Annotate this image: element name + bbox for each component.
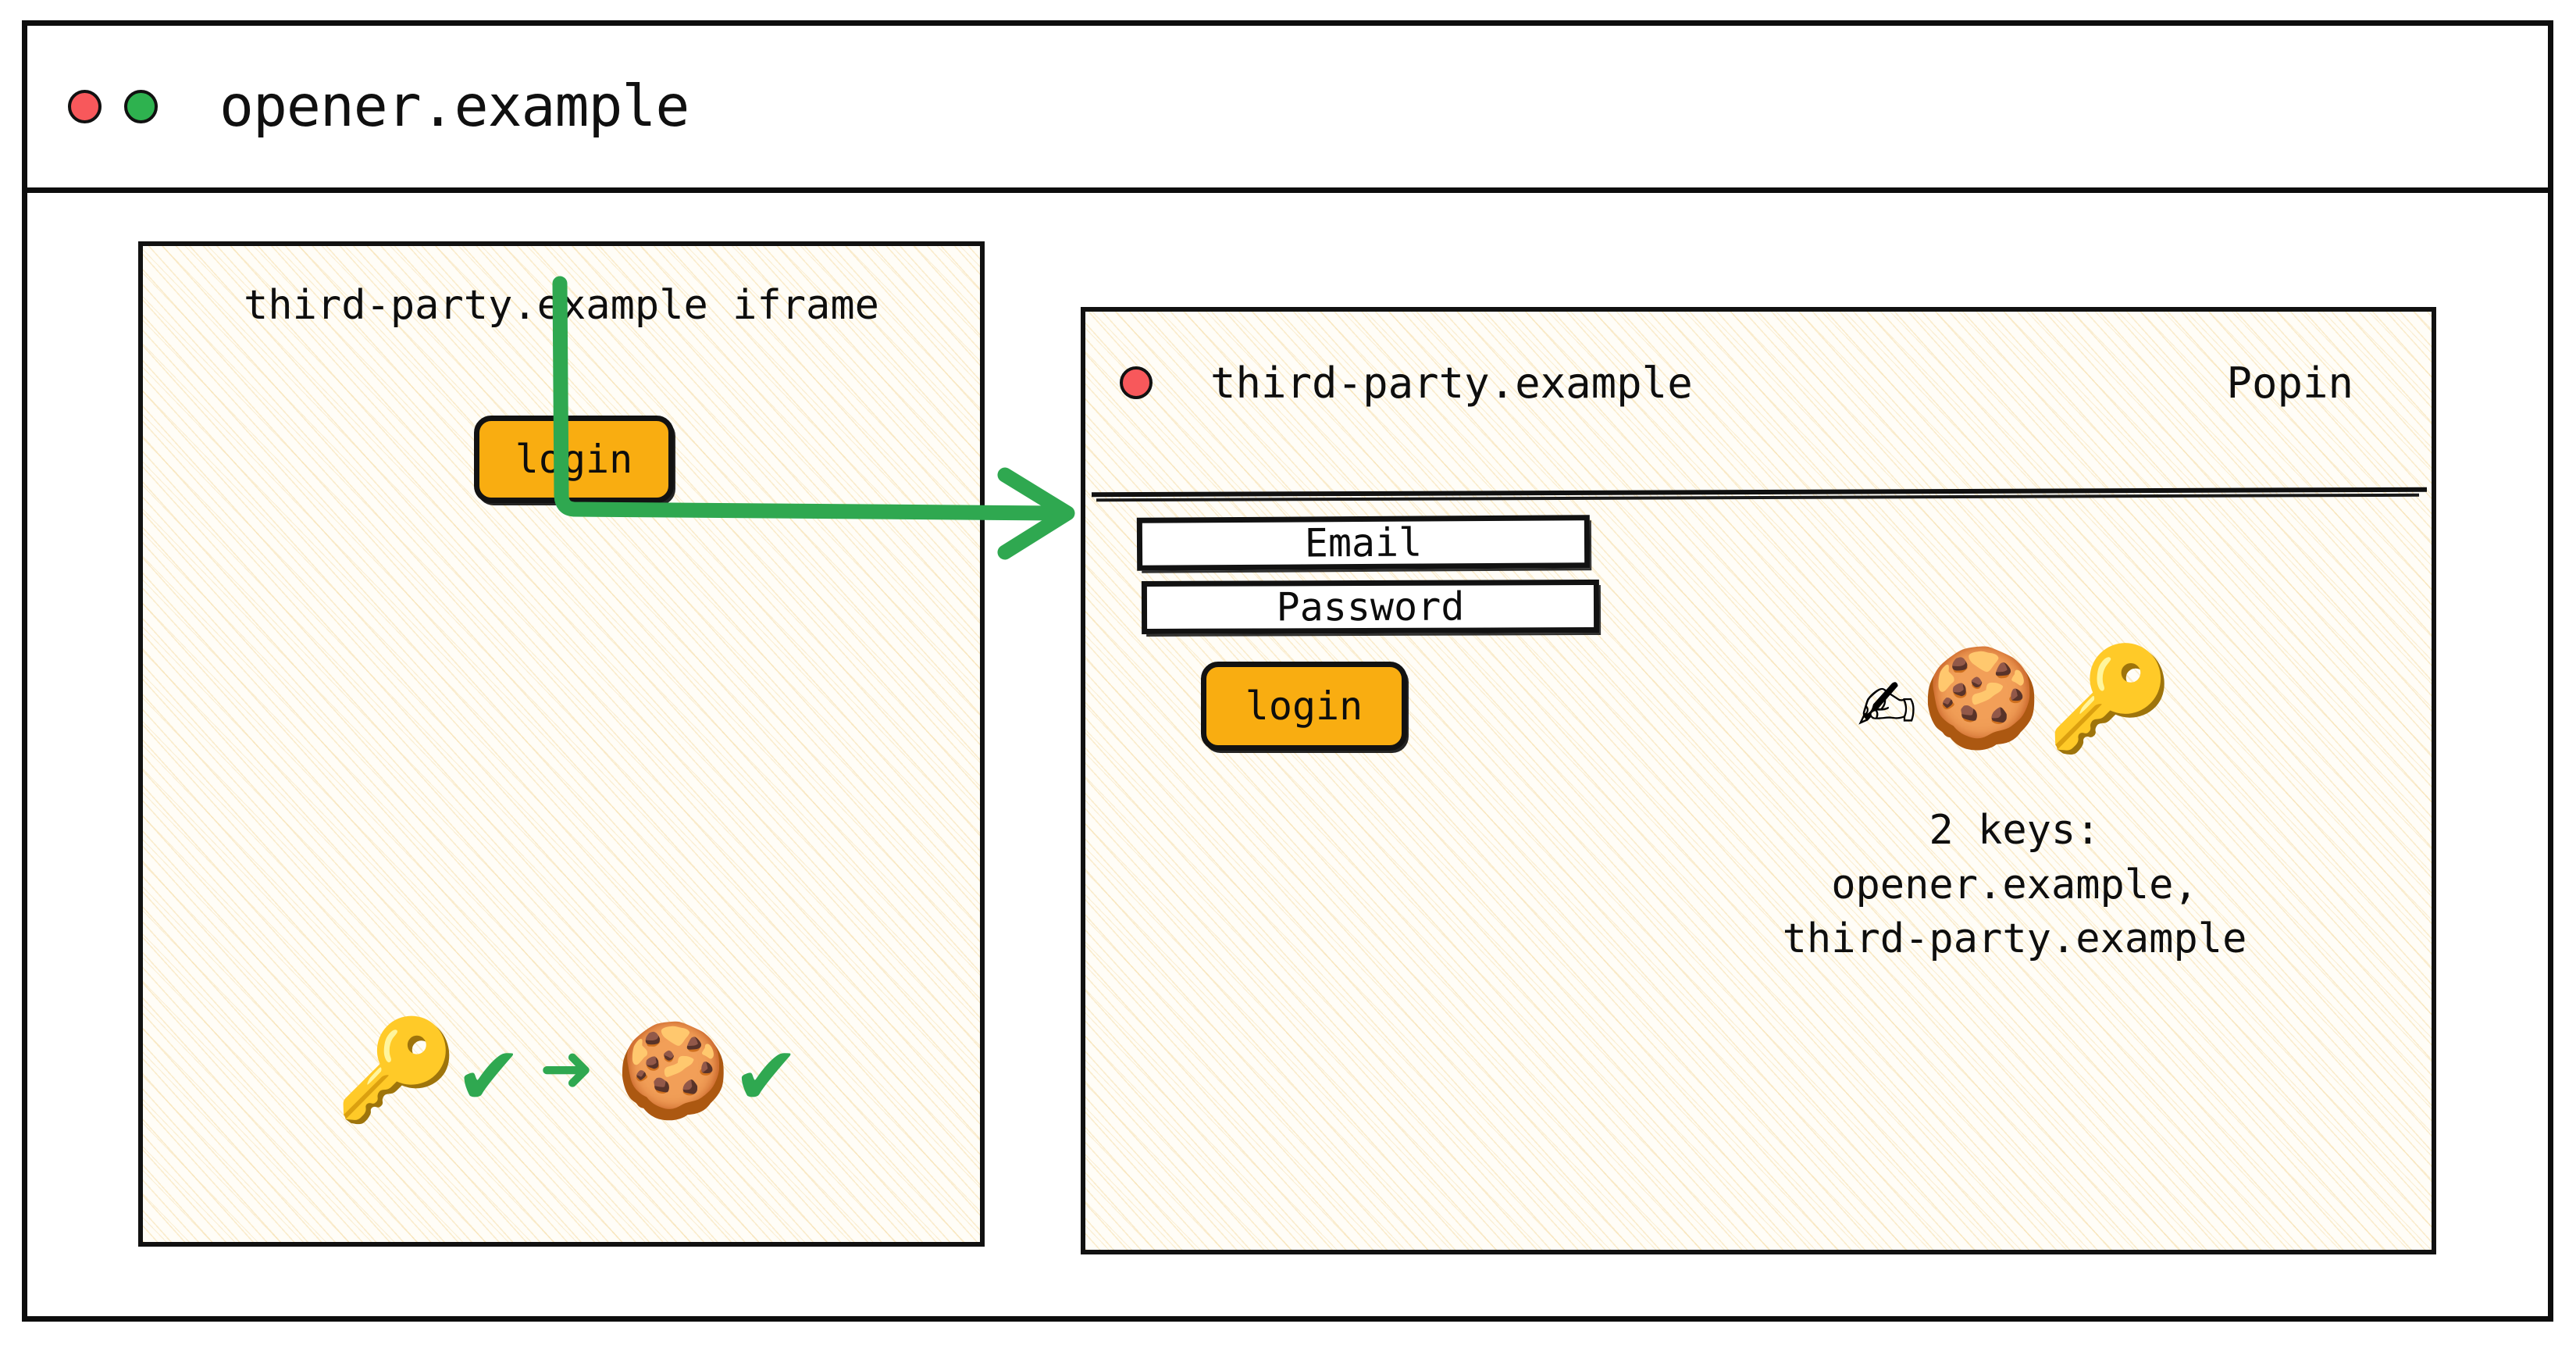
cookie-icon: 🍪 (1921, 650, 2041, 747)
maximize-dot-icon[interactable] (124, 90, 158, 123)
popup-close-dot-icon[interactable] (1120, 366, 1153, 399)
email-field[interactable]: Email (1137, 515, 1590, 571)
password-field[interactable]: Password (1142, 580, 1599, 634)
flow-arrow-icon: ➜ (540, 1026, 592, 1114)
browser-window: opener.example third-party.example ifram… (22, 20, 2553, 1322)
writing-hand-icon: ✍ (1856, 648, 1916, 748)
popup-header: third-party.example Popin (1085, 312, 2432, 454)
popup-origin-label: third-party.example (1210, 359, 1693, 408)
iframe-login-button[interactable]: login (474, 416, 674, 503)
iframe-storage-row: 🔑 ✔ ➜ 🍪 ✔ (159, 972, 971, 1168)
popup-panel: third-party.example Popin Email Password… (1081, 307, 2436, 1254)
key-check-icon: ✔ (461, 1024, 516, 1116)
window-title: opener.example (219, 73, 689, 140)
iframe-title: third-party.example iframe (143, 282, 980, 329)
cookie-check-icon: ✔ (739, 1024, 794, 1116)
popup-keys-note: 2 keys: opener.example, third-party.exam… (1663, 804, 2366, 967)
diagram-canvas: opener.example third-party.example ifram… (0, 0, 2576, 1356)
popup-login-button[interactable]: login (1201, 662, 1407, 751)
popup-storage-icons: ✍ 🍪 🔑 (1718, 648, 2311, 749)
third-party-iframe-panel: third-party.example iframe login 🔑 ✔ ➜ 🍪… (138, 241, 985, 1247)
key-icon: 🔑 (335, 1021, 458, 1119)
popup-login-form: Email Password (1132, 516, 1601, 633)
window-title-bar: opener.example (27, 26, 2548, 193)
popup-header-divider (1092, 487, 2427, 498)
close-dot-icon[interactable] (68, 90, 102, 123)
cookie-icon: 🍪 (616, 1024, 731, 1116)
key-icon: 🔑 (2047, 648, 2173, 749)
popup-type-label: Popin (2226, 359, 2353, 408)
